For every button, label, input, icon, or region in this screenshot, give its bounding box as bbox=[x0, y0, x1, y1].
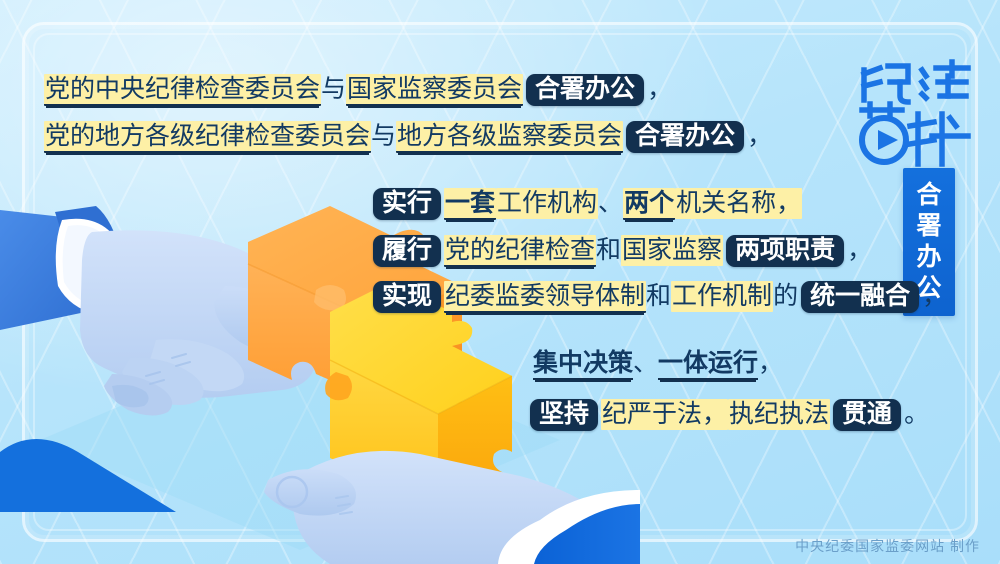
l1-conj: 与 bbox=[321, 76, 346, 103]
l3-badge-shixing: 实行 bbox=[373, 188, 441, 220]
l2-punct: ， bbox=[747, 123, 772, 150]
l5-punct: ， bbox=[922, 283, 947, 310]
l6-phrase-2: 一体运行 bbox=[658, 350, 758, 380]
l6-punct: ， bbox=[758, 350, 783, 377]
statement-line-5: 实现纪委监委领导体制和工作机制的统一融合， bbox=[370, 281, 947, 313]
l1-subject-1: 党的中央纪律检查委员会 bbox=[44, 74, 321, 106]
l1-punct: ， bbox=[647, 76, 672, 103]
l3-obj-1: 工作机构 bbox=[496, 188, 598, 219]
l5-de: 的 bbox=[773, 283, 798, 310]
statement-line-1: 党的中央纪律检查委员会与国家监察委员会合署办公， bbox=[44, 74, 672, 106]
l5-badge-shixian: 实现 bbox=[373, 281, 441, 313]
statement-line-7: 坚持纪严于法，执纪执法贯通。 bbox=[527, 399, 929, 431]
l2-badge-heshu: 合署办公 bbox=[626, 121, 744, 153]
l4-badge-liangxiang: 两项职责 bbox=[726, 235, 844, 267]
l5-conj: 和 bbox=[646, 283, 671, 310]
l5-badge-tongyi: 统一融合 bbox=[801, 281, 919, 313]
l6-phrase-1: 集中决策 bbox=[533, 350, 633, 380]
statement-line-4: 履行党的纪律检查和国家监察两项职责， bbox=[370, 235, 872, 267]
statement-line-2: 党的地方各级纪律检查委员会与地方各级监察委员会合署办公， bbox=[44, 121, 772, 153]
l7-phrase-2: 执纪执法 bbox=[728, 399, 830, 430]
l1-badge-heshu: 合署办公 bbox=[526, 74, 644, 106]
statement-line-6: 集中决策、一体运行， bbox=[533, 351, 783, 376]
l7-punct: 。 bbox=[904, 401, 929, 428]
l4-badge-lvxing: 履行 bbox=[373, 235, 441, 267]
l5-system-2: 工作机制 bbox=[671, 281, 773, 312]
l3-obj-2: 机关名称， bbox=[675, 188, 802, 219]
l7-badge-guantong: 贯通 bbox=[833, 399, 901, 431]
l3-num-2: 两个 bbox=[623, 188, 675, 220]
l2-conj: 与 bbox=[371, 123, 396, 150]
footer-credit: 中央纪委国家监委网站 制作 bbox=[795, 536, 980, 556]
l1-subject-2: 国家监察委员会 bbox=[346, 74, 523, 106]
l3-sep: 、 bbox=[598, 190, 623, 217]
statement-line-3: 实行一套工作机构、两个机关名称， bbox=[370, 188, 802, 220]
l4-duty-1: 党的纪律检查 bbox=[444, 235, 596, 267]
l7-phrase-1: 纪严于法， bbox=[601, 399, 728, 430]
text-block: 党的中央纪律检查委员会与国家监察委员会合署办公， 党的地方各级纪律检查委员会与地… bbox=[0, 0, 1000, 564]
l4-punct: ， bbox=[847, 237, 872, 264]
l4-conj: 和 bbox=[596, 237, 621, 264]
l2-subject-1: 党的地方各级纪律检查委员会 bbox=[44, 121, 371, 153]
l4-duty-2: 国家监察 bbox=[621, 235, 723, 266]
l5-system-1: 纪委监委领导体制 bbox=[444, 281, 646, 313]
l3-num-1: 一套 bbox=[444, 188, 496, 220]
poster-canvas: 合 署 办 公 党的中央纪律检查委员会与国家监察委员会合署办公， 党的地方各级纪… bbox=[0, 0, 1000, 564]
l2-subject-2: 地方各级监察委员会 bbox=[396, 121, 623, 153]
l7-badge-jianchi: 坚持 bbox=[530, 399, 598, 431]
l6-sep: 、 bbox=[633, 350, 658, 377]
